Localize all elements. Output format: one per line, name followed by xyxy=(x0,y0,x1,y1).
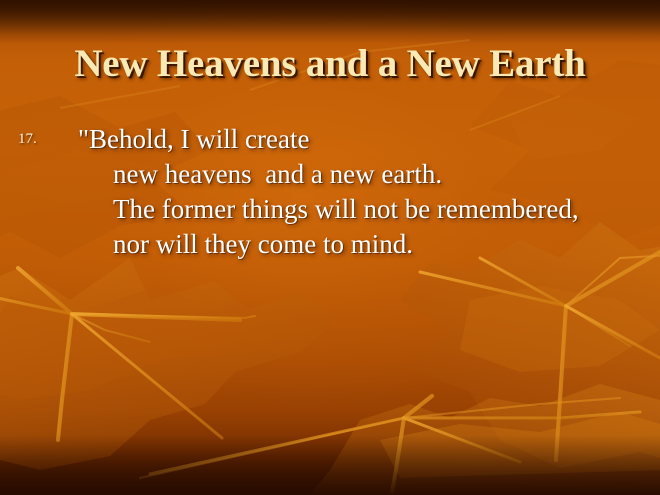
leaf-shape-left xyxy=(0,258,340,470)
presentation-slide: New Heavens and a New Earth 17. "Behold,… xyxy=(0,0,660,495)
slide-body: 17. "Behold, I will create new heavens a… xyxy=(0,122,660,262)
slide-title: New Heavens and a New Earth xyxy=(0,42,660,86)
quote-line-2: new heavens and a new earth. xyxy=(0,157,660,192)
verse-number: 17. xyxy=(18,131,37,147)
verse-row: 17. "Behold, I will create xyxy=(0,122,660,157)
quote-line-1: "Behold, I will create xyxy=(0,122,660,157)
quote-line-3: The former things will not be remembered… xyxy=(0,192,660,227)
quote-line-4: nor will they come to mind. xyxy=(0,227,660,262)
leaf-shape-bottom-center xyxy=(140,384,660,495)
